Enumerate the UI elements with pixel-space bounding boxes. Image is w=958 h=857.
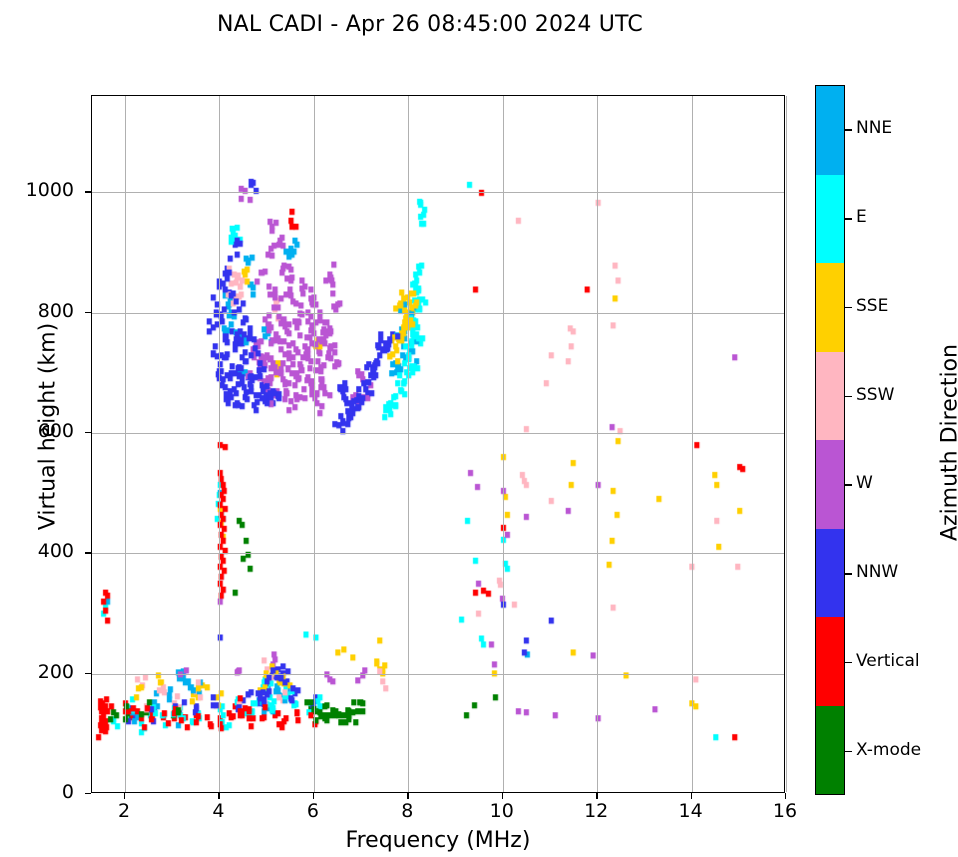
gridline-horizontal xyxy=(92,313,784,314)
y-tick xyxy=(85,793,91,794)
x-tick-label: 16 xyxy=(755,800,815,822)
y-tick xyxy=(85,191,91,192)
colorbar xyxy=(815,85,845,795)
x-tick-label: 6 xyxy=(283,800,343,822)
colorbar-tick xyxy=(845,484,852,485)
colorbar-segment-nnw xyxy=(816,529,844,618)
gridline-horizontal xyxy=(92,553,784,554)
colorbar-label-nne: NNE xyxy=(856,118,892,138)
x-tick xyxy=(502,793,503,799)
gridline-horizontal xyxy=(92,192,784,193)
gridline-vertical xyxy=(314,96,315,792)
gridline-horizontal xyxy=(92,433,784,434)
colorbar-title: Azimuth Direction xyxy=(938,163,958,723)
y-tick xyxy=(85,312,91,313)
colorbar-segment-nne xyxy=(816,86,844,175)
x-tick-label: 12 xyxy=(566,800,626,822)
y-tick-label: 0 xyxy=(0,781,74,803)
gridline-vertical xyxy=(597,96,598,792)
colorbar-segment-vertical xyxy=(816,617,844,706)
x-axis-title: Frequency (MHz) xyxy=(91,828,785,853)
gridline-vertical xyxy=(503,96,504,792)
x-tick-label: 4 xyxy=(188,800,248,822)
x-tick xyxy=(124,793,125,799)
x-tick-label: 2 xyxy=(94,800,154,822)
x-tick xyxy=(407,793,408,799)
colorbar-label-e: E xyxy=(856,207,867,227)
x-tick xyxy=(313,793,314,799)
x-tick xyxy=(785,793,786,799)
x-tick-label: 10 xyxy=(472,800,532,822)
colorbar-tick xyxy=(845,662,852,663)
colorbar-tick xyxy=(845,129,852,130)
gridline-horizontal xyxy=(92,674,784,675)
colorbar-tick xyxy=(845,218,852,219)
colorbar-segment-sse xyxy=(816,263,844,352)
scatter-canvas xyxy=(92,96,784,792)
gridline-vertical xyxy=(786,96,787,792)
colorbar-label-nnw: NNW xyxy=(856,562,898,582)
x-tick xyxy=(691,793,692,799)
colorbar-segment-e xyxy=(816,175,844,264)
plot-area xyxy=(91,95,785,793)
x-tick-label: 8 xyxy=(377,800,437,822)
colorbar-segment-w xyxy=(816,440,844,529)
colorbar-label-vertical: Vertical xyxy=(856,651,920,671)
colorbar-label-ssw: SSW xyxy=(856,385,894,405)
colorbar-tick xyxy=(845,751,852,752)
colorbar-segment-x-mode xyxy=(816,706,844,795)
colorbar-label-x-mode: X-mode xyxy=(856,740,921,760)
y-tick xyxy=(85,552,91,553)
colorbar-tick xyxy=(845,573,852,574)
y-tick xyxy=(85,673,91,674)
chart-title: NAL CADI - Apr 26 08:45:00 2024 UTC xyxy=(0,12,860,37)
colorbar-label-sse: SSE xyxy=(856,296,888,316)
colorbar-tick xyxy=(845,307,852,308)
gridline-vertical xyxy=(408,96,409,792)
colorbar-label-w: W xyxy=(856,473,873,493)
ionogram-figure: NAL CADI - Apr 26 08:45:00 2024 UTC 2468… xyxy=(0,0,958,857)
gridline-vertical xyxy=(219,96,220,792)
gridline-vertical xyxy=(692,96,693,792)
y-axis-title: Virtual height (km) xyxy=(36,147,61,707)
gridline-vertical xyxy=(125,96,126,792)
x-tick xyxy=(218,793,219,799)
x-tick-label: 14 xyxy=(661,800,721,822)
x-tick xyxy=(596,793,597,799)
colorbar-tick xyxy=(845,396,852,397)
colorbar-segment-ssw xyxy=(816,352,844,441)
y-tick xyxy=(85,432,91,433)
